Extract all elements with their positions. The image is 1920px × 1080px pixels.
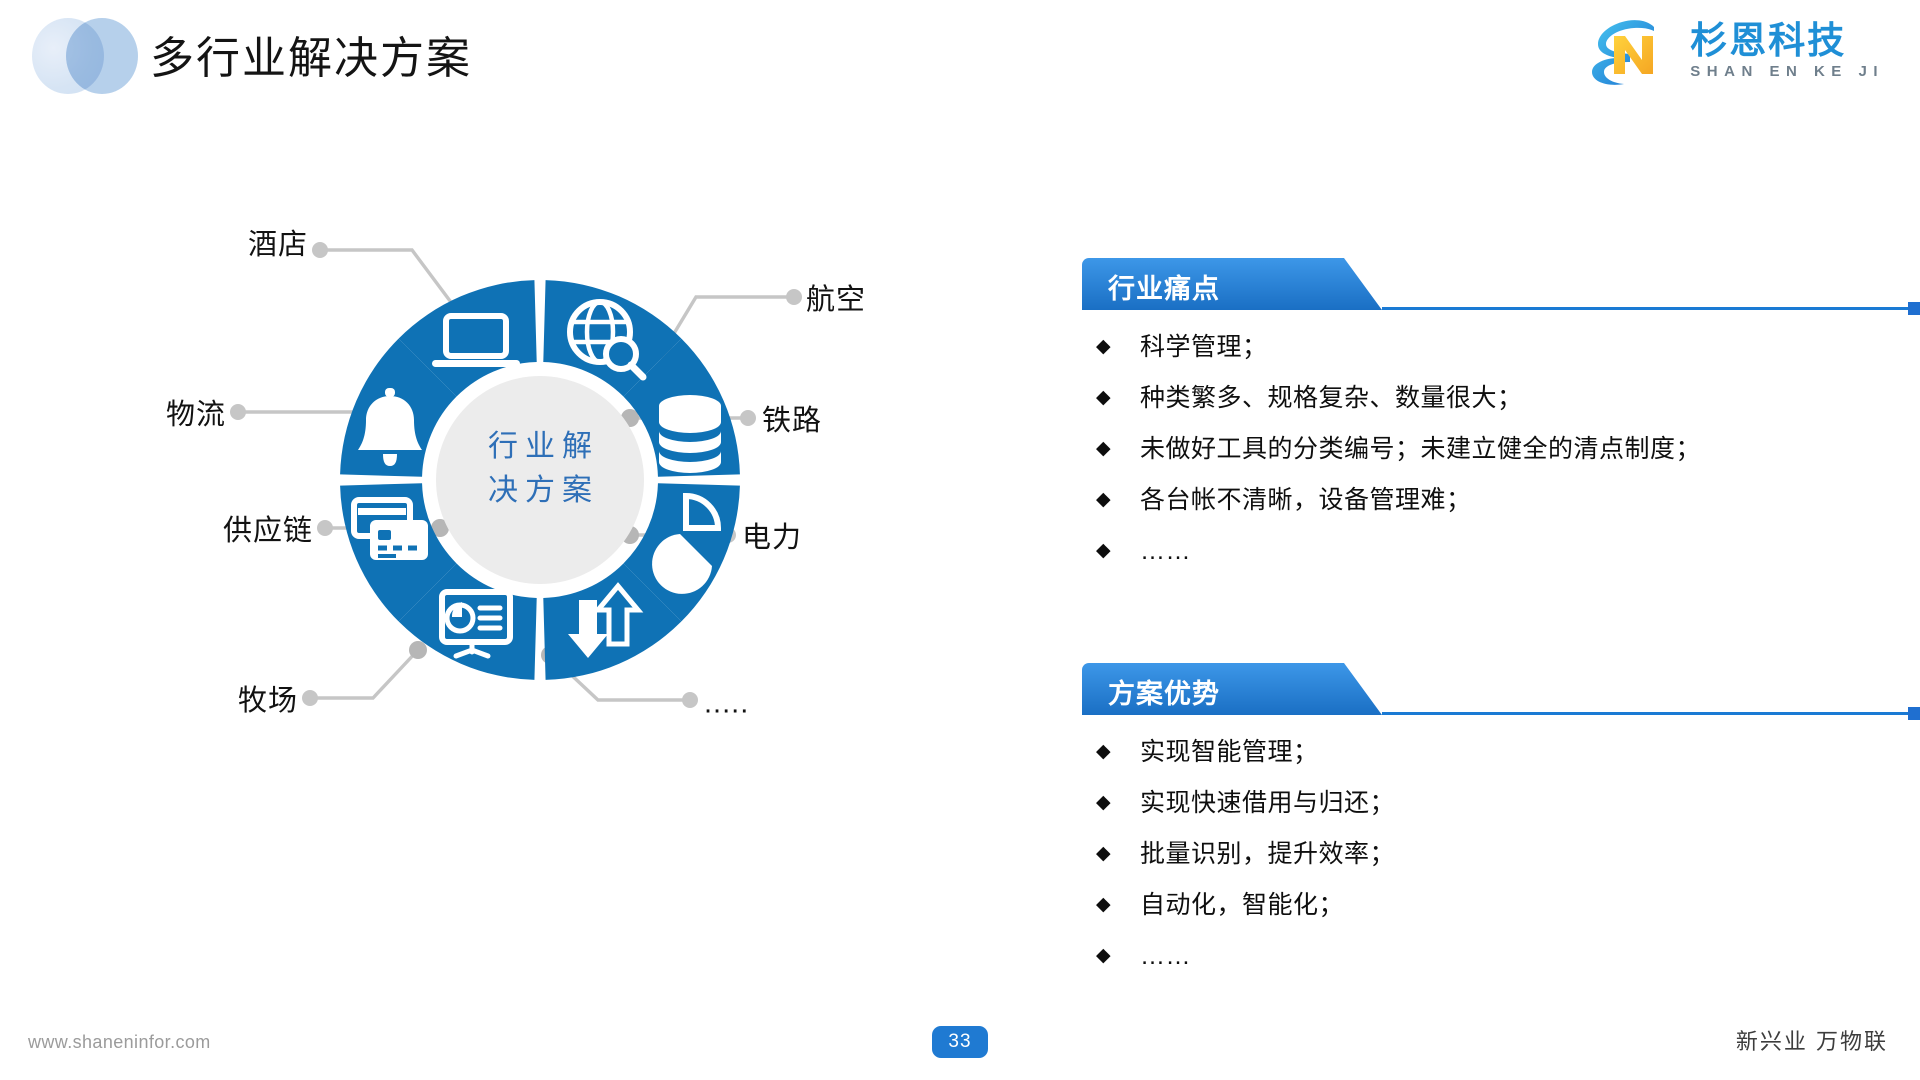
diagram-center-text: 行业解 决方案 [420,425,660,512]
panel-rule-end-marker [1908,302,1920,315]
company-logo: 杉恩科技 SHAN EN KE JI [1584,14,1884,88]
panel-industry-pain-points: 行业痛点 ◆ 科学管理； ◆ 种类繁多、规格复杂、数量很大； ◆ 未做好工具的分… [1082,258,1912,310]
segment-label-railway: 铁路 [762,397,822,439]
diamond-bullet-icon: ◆ [1096,381,1118,415]
diamond-bullet-icon: ◆ [1096,888,1118,922]
list-item-text: 种类繁多、规格复杂、数量很大； [1140,381,1523,415]
list-item-text: 实现快速借用与归还； [1140,786,1395,820]
list-item: ◆ 实现智能管理； [1096,735,1912,772]
list-item-text: 未做好工具的分类编号；未建立健全的清点制度； [1140,432,1701,466]
list-item: ◆ 实现快速借用与归还； [1096,786,1912,823]
panel-title: 行业痛点 [1108,267,1220,306]
list-item: ◆ 各台帐不清晰，设备管理难； [1096,483,1912,520]
footer-website-url[interactable]: www.shaneninfor.com [28,1032,211,1053]
logo-company-name-en: SHAN EN KE JI [1690,63,1884,80]
segment-label-hotel: 酒店 [248,221,308,263]
decorative-circles-logo [32,18,142,94]
segment-label-others: ..... [704,688,749,721]
panel-header: 行业痛点 [1082,258,1382,310]
page-title: 多行业解决方案 [150,22,472,86]
circle-right-icon [66,18,138,94]
panel-solution-advantages: 方案优势 ◆ 实现智能管理； ◆ 实现快速借用与归还； ◆ 批量识别，提升效率；… [1082,663,1912,715]
list-item: ◆ 自动化，智能化； [1096,888,1912,925]
list-item: ◆ 科学管理； [1096,330,1912,367]
segment-label-supplychain: 供应链 [223,507,313,549]
list-item: ◆ 未做好工具的分类编号；未建立健全的清点制度； [1096,432,1912,469]
shanen-monogram-icon [1584,14,1676,88]
diamond-bullet-icon: ◆ [1096,330,1118,364]
slide-header: 多行业解决方案 杉恩科技 SHAN EN KE JI [0,0,1920,120]
diamond-bullet-icon: ◆ [1096,837,1118,871]
list-item-text: 自动化，智能化； [1140,888,1344,922]
list-item: ◆ 种类繁多、规格复杂、数量很大； [1096,381,1912,418]
list-item-text: …… [1140,939,1191,973]
industry-solution-donut-diagram: 行业解 决方案 酒店 航空 铁路 电力 ..... 牧场 供应链 物流 [130,180,950,900]
list-item-text: …… [1140,534,1191,568]
panel-bullet-list: ◆ 实现智能管理； ◆ 实现快速借用与归还； ◆ 批量识别，提升效率； ◆ 自动… [1096,735,1912,990]
diamond-bullet-icon: ◆ [1096,432,1118,466]
diamond-bullet-icon: ◆ [1096,483,1118,517]
center-text-line2: 决方案 [420,469,660,513]
list-item-text: 各台帐不清晰，设备管理难； [1140,483,1472,517]
panel-title: 方案优势 [1108,672,1220,711]
footer-slogan: 新兴业 万物联 [1736,1024,1888,1056]
page-number-badge: 33 [932,1026,988,1058]
segment-label-ranch: 牧场 [238,677,298,719]
center-text-line1: 行业解 [420,425,660,469]
segment-label-logistics: 物流 [166,391,226,433]
list-item-text: 实现智能管理； [1140,735,1319,769]
diamond-bullet-icon: ◆ [1096,939,1118,973]
diamond-bullet-icon: ◆ [1096,735,1118,769]
list-item: ◆ 批量识别，提升效率； [1096,837,1912,874]
logo-company-name-cn: 杉恩科技 [1690,22,1884,61]
list-item-text: 批量识别，提升效率； [1140,837,1395,871]
panel-rule-end-marker [1908,707,1920,720]
segment-label-aviation: 航空 [806,276,866,318]
panel-rule [1382,712,1912,715]
list-item: ◆ …… [1096,939,1912,976]
list-item: ◆ …… [1096,534,1912,571]
diamond-bullet-icon: ◆ [1096,534,1118,568]
segment-label-power: 电力 [742,514,802,556]
list-item-text: 科学管理； [1140,330,1268,364]
diamond-bullet-icon: ◆ [1096,786,1118,820]
panel-bullet-list: ◆ 科学管理； ◆ 种类繁多、规格复杂、数量很大； ◆ 未做好工具的分类编号；未… [1096,330,1912,585]
panel-rule [1382,307,1912,310]
panel-header: 方案优势 [1082,663,1382,715]
